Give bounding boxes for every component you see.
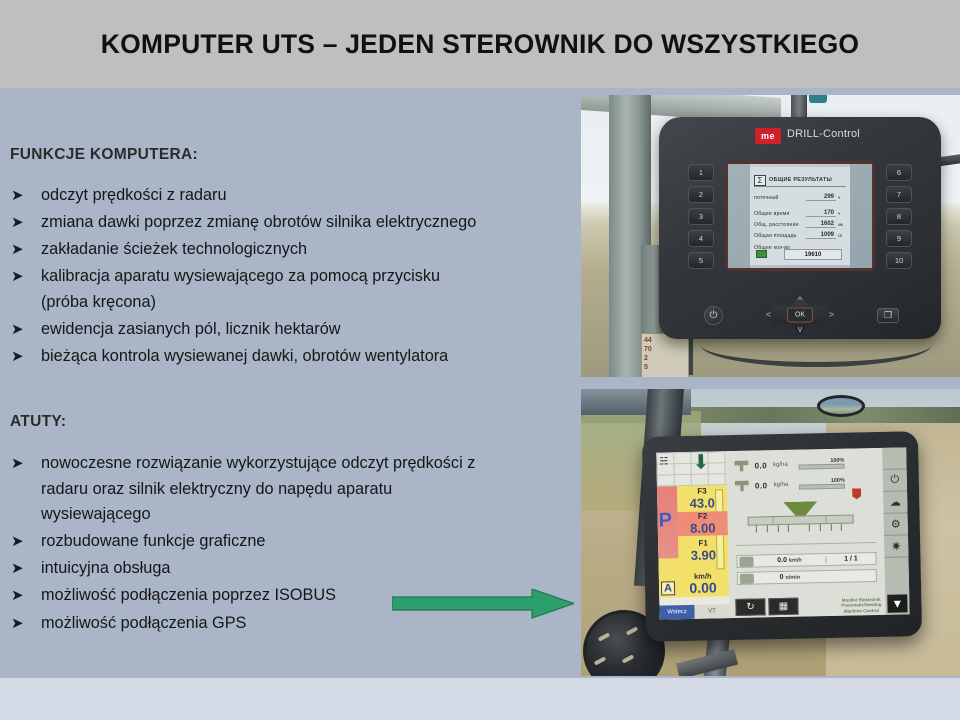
gauge-panel: P F3 43.0 F2 8.00 F1 3.9 — [657, 485, 729, 597]
arrow-down-icon: ⬇ — [692, 453, 709, 473]
chevron-right-icon[interactable]: > — [829, 311, 834, 320]
list-item-label-line2: radaru oraz silnik elektryczny do napędu… — [41, 477, 570, 503]
coulter-tine — [841, 524, 842, 531]
list-item-label: zmiana dawki poprzez zmianę obrotów siln… — [41, 210, 575, 236]
drill-control-device: me DRILL-Control Σ ОБЩИЕ РЕЗУЛЬТАТЫ пото… — [659, 117, 941, 339]
rate-value: 0.0 — [754, 461, 767, 470]
list-item-label: bieżąca kontrola wysiewanej dawki, obrot… — [41, 344, 575, 370]
arrow-bullet-icon: ➤ — [11, 611, 27, 635]
speed-value: 0.00 — [677, 580, 729, 596]
arrow-bullet-icon: ➤ — [11, 264, 27, 288]
list-item-label: zakładanie ścieżek technologicznych — [41, 237, 575, 263]
knob-spoke — [622, 654, 634, 663]
list-item-label-line3: wysiewającego — [41, 502, 570, 528]
screen-row: Общее время 170 ч — [754, 209, 846, 218]
isobus-terminal-device: ☵ ⬇ P F3 43.0 F2 8. — [642, 431, 922, 642]
isobus-screen: ☵ ⬇ P F3 43.0 F2 8. — [656, 447, 909, 619]
down-icon[interactable]: ▼ — [887, 594, 907, 612]
arrow-bullet-icon: ➤ — [11, 183, 27, 207]
tab-vt[interactable]: VT — [694, 604, 729, 619]
list-item-label: nowoczesne rozwiązanie wykorzystujące od… — [41, 451, 570, 477]
softkey-9[interactable]: 9 — [886, 230, 912, 247]
softkey-3[interactable]: 3 — [688, 208, 714, 225]
coulter-tine — [777, 525, 778, 532]
arrow-bullet-icon: ➤ — [11, 556, 27, 580]
rate-unit: kg/ha — [773, 482, 788, 488]
list-item-label: rozbudowane funkcje graficzne — [41, 529, 570, 555]
slide-header: KOMPUTER UTS – JEDEN STEROWNIK DO WSZYST… — [0, 0, 960, 88]
fertilizer-rate-row: 0.0 kg/ha 100% — [735, 477, 847, 493]
row-label: Общая площадь — [754, 233, 806, 239]
data-value: 0.0 km/h — [753, 556, 825, 565]
softkey-10[interactable]: 10 — [886, 252, 912, 269]
data-number: 0 — [780, 574, 784, 581]
slide-root: KOMPUTER UTS – JEDEN STEROWNIK DO WSZYST… — [0, 0, 960, 720]
f3-value: 43.0 — [677, 496, 727, 511]
panel-divider — [736, 542, 876, 546]
softkey-1[interactable]: 1 — [688, 164, 714, 181]
knob-spoke — [626, 626, 638, 635]
tramline-grid: ☵ ⬇ — [656, 451, 727, 486]
screen-row: поточный 299 ч — [754, 193, 846, 202]
power-icon[interactable]: ⏻ — [883, 469, 907, 491]
list-item: ➤ zmiana dawki poprzez zmianę obrotów si… — [10, 210, 575, 236]
task-switch-icon[interactable]: ❐ — [877, 308, 899, 323]
coulter-tine — [830, 524, 831, 531]
park-badge: P — [658, 510, 672, 530]
row-label: поточный — [754, 195, 806, 201]
knob-spoke — [598, 632, 610, 641]
page-title: KOMPUTER UTS – JEDEN STEROWNIK DO WSZYST… — [101, 29, 859, 60]
list-item-label: intuicyjna obsługa — [41, 556, 570, 582]
softkey-5[interactable]: 5 — [688, 252, 714, 269]
fan-icon — [740, 573, 754, 583]
functions-bullet-list: ➤ odczyt prędkości z radaru ➤ zmiana daw… — [10, 183, 575, 371]
hopper-chip-icon — [756, 250, 767, 258]
list-item-label: odczyt prędkości z radaru — [41, 183, 575, 209]
softkey-8[interactable]: 8 — [886, 208, 912, 225]
coulter-tine — [756, 526, 757, 533]
arrow-bullet-icon: ➤ — [11, 210, 27, 234]
data-unit: km/h — [789, 558, 802, 564]
photo-isobus-terminal: ☵ ⬇ P F3 43.0 F2 8. — [581, 389, 960, 676]
rate-percent-gauge: 100% — [798, 458, 844, 470]
list-item: ➤ intuicyjna obsługa — [10, 556, 570, 582]
screen-title: ОБЩИЕ РЕЗУЛЬТАТЫ — [769, 177, 832, 183]
arrow-bullet-icon: ➤ — [11, 317, 27, 341]
screen-right-gutter — [850, 164, 872, 268]
sigma-icon: Σ — [754, 175, 766, 186]
screen-content: Σ ОБЩИЕ РЕЗУЛЬТАТЫ поточный 299 ч Общее … — [750, 167, 850, 265]
green-right-arrow-icon — [392, 589, 574, 619]
mount-knob — [809, 95, 827, 103]
boom-divider — [826, 515, 827, 524]
coulter-tine — [788, 525, 789, 532]
step-plate-markings: 447025 — [642, 334, 688, 374]
device-brand-label: DRILL-Control — [787, 128, 860, 140]
rate-bar — [798, 464, 844, 470]
section-heading-functions: FUNKCJE KOMPUTERA: — [10, 146, 198, 164]
cab-step-plate: 447025 — [641, 333, 689, 377]
data-number: 0.0 — [777, 557, 787, 564]
list-item-label: kalibracja aparatu wysiewającego za pomo… — [41, 264, 575, 290]
list-item: ➤ bieżąca kontrola wysiewanej dawki, obr… — [10, 344, 575, 370]
rear-view-mirror — [817, 395, 865, 417]
speed-readout: km/h 0.00 — [677, 571, 729, 596]
row-value: 299 — [806, 194, 836, 201]
arrow-bullet-icon: ➤ — [11, 583, 27, 607]
hopper-icon — [734, 460, 748, 471]
screen-right-buttonbar[interactable]: ⏻ ☁ ⚙ ✷ ▼ — [882, 447, 909, 614]
screen-title-bar: Σ ОБЩИЕ РЕЗУЛЬТАТЫ — [754, 174, 846, 187]
hopper-icon — [735, 480, 749, 491]
screen-total-value: 19610 — [784, 249, 842, 260]
screen-row: Общая площадь 1009 га — [754, 231, 846, 240]
f1-readout: F1 3.90 — [678, 538, 728, 563]
power-button-icon[interactable]: ⏻ — [704, 306, 723, 325]
f3-readout: F3 43.0 — [677, 486, 727, 511]
row-label: Общ. расстояние — [754, 222, 806, 228]
rate-value: 0.0 — [755, 481, 768, 490]
chevron-down-icon[interactable]: v — [798, 325, 803, 334]
knob-spoke — [594, 656, 606, 665]
fan-data-row: 0 o/min — [737, 569, 877, 585]
arrow-bullet-icon: ➤ — [11, 344, 27, 368]
list-item-label-line2: (próba kręcona) — [41, 290, 575, 316]
chevron-left-icon[interactable]: < — [766, 311, 771, 320]
rate-unit: kg/ha — [773, 462, 788, 468]
section-counter: 1 / 1 — [825, 555, 875, 563]
arrow-bullet-icon: ➤ — [11, 451, 27, 475]
me-brand-icon: me — [755, 128, 781, 144]
list-item: ➤ nowoczesne rozwiązanie wykorzystujące … — [10, 451, 570, 528]
list-item-label: ewidencja zasianych pól, licznik hektaró… — [41, 317, 575, 343]
row-value: 1009 — [806, 232, 836, 239]
gear-icon[interactable]: ✷ — [884, 535, 908, 557]
row-value: 1602 — [806, 221, 836, 228]
coulter-tine — [820, 524, 821, 531]
speed-icon — [739, 556, 753, 566]
list-item: ➤ zakładanie ścieżek technologicznych — [10, 237, 575, 263]
list-item: ➤ odczyt prędkości z radaru — [10, 183, 575, 209]
rate-percent-gauge: 100% — [799, 478, 845, 490]
auto-mode-badge: A — [661, 581, 675, 595]
tramline-icon: ☵ — [659, 456, 668, 467]
speed-data-row: 0.0 km/h 1 / 1 — [736, 552, 876, 568]
f2-value: 8.00 — [678, 521, 728, 536]
hopper-icon[interactable]: ☁ — [883, 491, 907, 513]
row-unit: ч — [836, 195, 846, 200]
section-heading-advantages: ATUTY: — [10, 413, 66, 431]
row-unit: км — [836, 222, 846, 227]
screen-left-gutter — [728, 164, 750, 268]
row-label: Общее время — [754, 211, 806, 217]
screen-main-panel: 0.0 kg/ha 100% 0.0 kg/ha 100% — [726, 448, 885, 618]
softkey-7[interactable]: 7 — [886, 186, 912, 203]
screen-tabs[interactable]: Wstecz VT — [659, 604, 729, 619]
data-unit: o/min — [785, 575, 800, 581]
calibration-icon[interactable]: ⚙ — [884, 513, 908, 535]
device-screen: Σ ОБЩИЕ РЕЗУЛЬТАТЫ поточный 299 ч Общее … — [728, 164, 872, 268]
manufacturer-brand-text: Mueller ElektronikPneumaticSeedingMachin… — [841, 596, 882, 613]
screen-row: Общ. расстояние 1602 км — [754, 220, 846, 229]
coulter-tine — [809, 524, 810, 531]
alarm-flag-icon — [852, 488, 861, 499]
chevron-up-icon[interactable]: ^ — [798, 296, 802, 305]
row-value: 170 — [806, 210, 836, 217]
photo-drill-control-terminal: 447025 me DRILL-Control Σ ОБЩИЕ РЕЗУЛЬТА… — [581, 95, 960, 377]
softkey-6[interactable]: 6 — [886, 164, 912, 181]
arrow-bullet-icon: ➤ — [11, 237, 27, 261]
list-item: ➤ rozbudowane funkcje graficzne — [10, 529, 570, 555]
blank-softkey[interactable] — [882, 447, 906, 469]
boom-divider — [773, 516, 774, 525]
slide-footer-strip — [0, 678, 960, 720]
coulter-tine — [767, 525, 768, 532]
arrow-bullet-icon: ➤ — [11, 529, 27, 553]
f1-value: 3.90 — [678, 548, 728, 563]
row-unit: ч — [836, 211, 846, 216]
dpad-control[interactable]: ^ v < > OK — [762, 295, 838, 335]
softkey-2[interactable]: 2 — [688, 186, 714, 203]
data-value: 0 o/min — [754, 573, 826, 582]
list-item: ➤ kalibracja aparatu wysiewającego za po… — [10, 264, 575, 315]
f2-readout: F2 8.00 — [677, 511, 727, 536]
refresh-icon[interactable]: ↻ — [735, 598, 765, 616]
machine-diagram — [747, 500, 854, 536]
row-unit: га — [836, 233, 846, 238]
grid-icon[interactable]: ▦ — [768, 598, 798, 616]
softkey-4[interactable]: 4 — [688, 230, 714, 247]
device-screen-bezel: Σ ОБЩИЕ РЕЗУЛЬТАТЫ поточный 299 ч Общее … — [725, 161, 875, 271]
seed-rate-row: 0.0 kg/ha 100% — [734, 457, 846, 473]
ok-button[interactable]: OK — [787, 308, 813, 323]
seeder-boom — [748, 514, 854, 525]
rate-bar — [799, 484, 845, 490]
list-item: ➤ ewidencja zasianych pól, licznik hekta… — [10, 317, 575, 343]
fan-right-cell — [826, 576, 876, 577]
tab-back[interactable]: Wstecz — [659, 605, 694, 620]
screen-left-panel: ☵ ⬇ P F3 43.0 F2 8. — [656, 451, 729, 619]
